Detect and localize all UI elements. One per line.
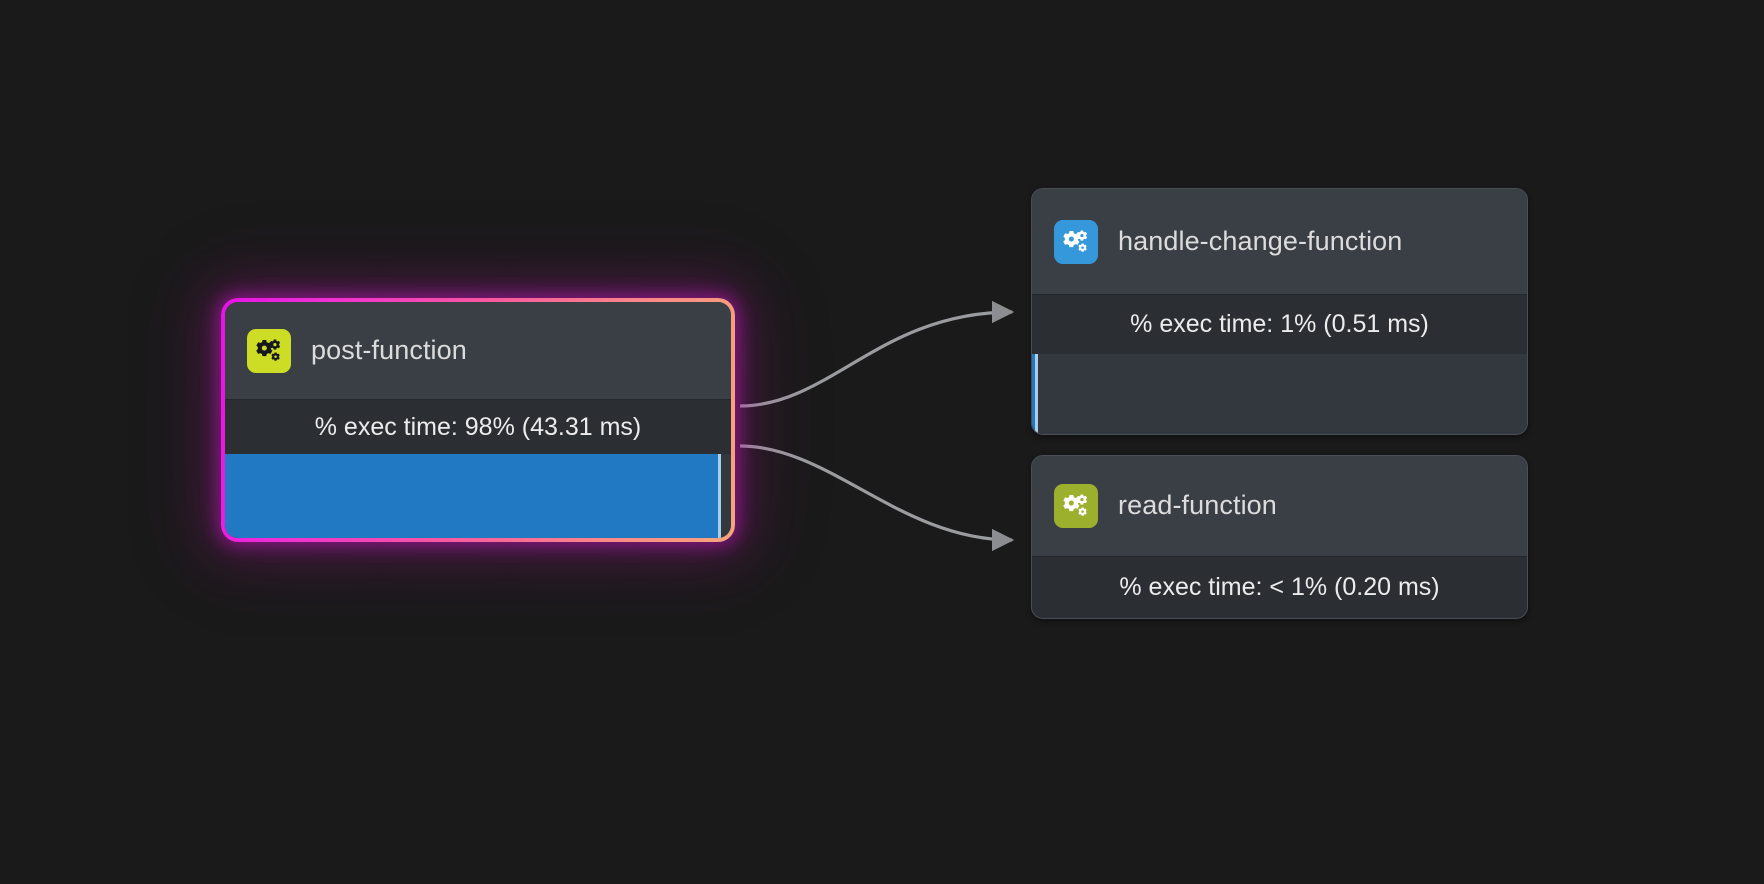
node-header: read-function [1032, 456, 1527, 556]
node-post-function[interactable]: post-function % exec time: 98% (43.31 ms… [225, 302, 731, 538]
node-metric-exec-time: % exec time: 98% (43.31 ms) [225, 399, 731, 454]
node-title: read-function [1118, 490, 1277, 521]
node-title: handle-change-function [1118, 226, 1402, 257]
node-bar-fill [1032, 354, 1038, 434]
gears-icon [1054, 484, 1098, 528]
edge-post-to-handle [740, 312, 1012, 406]
node-bar-fill [225, 454, 721, 538]
node-bar-track [1032, 354, 1527, 434]
node-header: post-function [225, 302, 731, 399]
node-bar-track [225, 454, 731, 538]
flow-canvas[interactable]: post-function % exec time: 98% (43.31 ms… [0, 0, 1764, 884]
node-read-function[interactable]: read-function % exec time: < 1% (0.20 ms… [1031, 455, 1528, 619]
edge-post-to-read [740, 446, 1012, 540]
node-header: handle-change-function [1032, 189, 1527, 294]
node-handle-change-function[interactable]: handle-change-function % exec time: 1% (… [1031, 188, 1528, 435]
node-metric-exec-time: % exec time: 1% (0.51 ms) [1032, 294, 1527, 354]
node-title: post-function [311, 335, 467, 366]
gears-icon [247, 329, 291, 373]
node-metric-exec-time: % exec time: < 1% (0.20 ms) [1032, 556, 1527, 618]
gears-icon [1054, 220, 1098, 264]
node-post-function-selection-ring[interactable]: post-function % exec time: 98% (43.31 ms… [221, 298, 735, 542]
